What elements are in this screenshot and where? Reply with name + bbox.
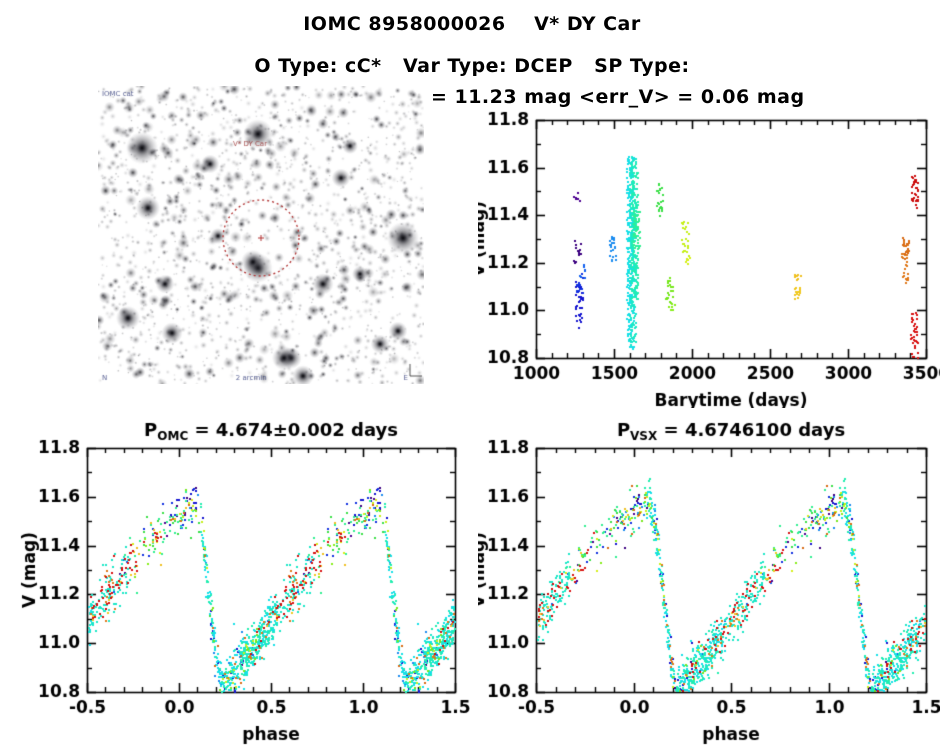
timeseries-plot-canvas [478,108,940,408]
classification-subtitle: O Type: cC* Var Type: DCEP SP Type: [0,55,944,77]
phase-omc-plot-canvas [18,414,470,747]
phase-omc-panel [18,414,470,747]
figure-page: IOMC 8958000026 V* DY Car O Type: cC* Va… [0,0,944,747]
timeseries-panel [478,108,940,408]
phase-vsx-plot-canvas [478,414,940,747]
phase-vsx-panel [478,414,940,747]
vmed-values: = 11.23 mag <err_V> = 0.06 mag [424,86,805,108]
sky-image-panel [98,86,424,384]
page-title: IOMC 8958000026 V* DY Car [0,13,944,35]
dss-finding-chart-canvas [98,86,424,384]
